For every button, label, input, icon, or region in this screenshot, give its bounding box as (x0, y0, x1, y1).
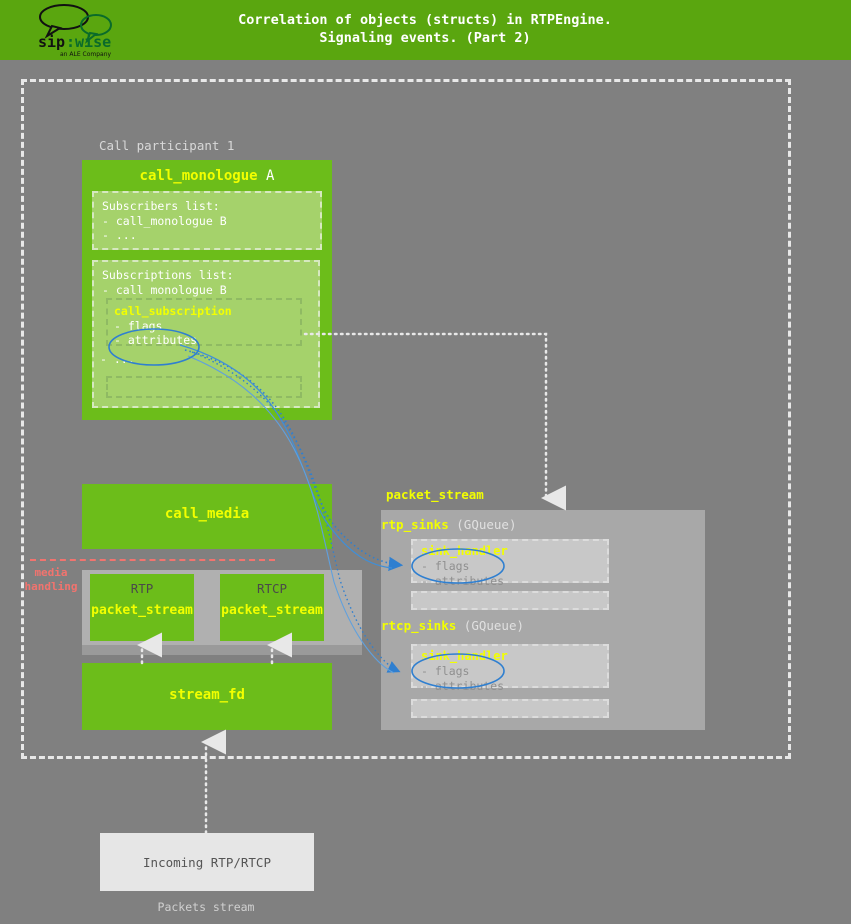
rtcp-sink-handler-box: sink_handler - flags - attributes (411, 644, 609, 688)
incoming-rtp-rtcp-box: Incoming RTP/RTCP (100, 833, 314, 891)
call-monologue-a-box: call_monologue A Subscribers list: - cal… (82, 160, 332, 420)
rtcp-sinks-name: rtcp_sinks (381, 618, 456, 633)
rtp-proto-label: RTP (90, 581, 194, 596)
rtcp-sink-handler-name: sink_handler (421, 649, 599, 664)
rtcp-sinks-type: (GQueue) (464, 618, 524, 633)
call-media-title: call_media (82, 506, 332, 522)
media-handling-label-line2: handling (22, 580, 80, 594)
stream-fd-title: stream_fd (82, 687, 332, 703)
media-handling-band-lower (82, 645, 362, 655)
rtcp-struct-label: packet_stream (220, 603, 324, 618)
stream-fd-box: stream_fd (82, 663, 332, 730)
rtcp-sink-handler-attributes: - attributes (421, 679, 599, 694)
title-line-2: Signaling events. (Part 2) (150, 29, 700, 47)
svg-text:sip: sip (38, 33, 65, 51)
rtp-sink-empty-slot (411, 591, 609, 610)
rtp-sink-handler-box: sink_handler - flags - attributes (411, 539, 609, 583)
diagram-canvas: sip :wise an ALE Company Correlation of … (0, 0, 851, 924)
rtcp-sink-handler-flags: - flags (421, 664, 599, 679)
rtp-sink-handler-attributes: - attributes (421, 574, 599, 589)
call-subscription-flags: - flags (114, 319, 294, 334)
subscribers-list-box: Subscribers list: - call_monologue B - .… (92, 191, 322, 250)
rtp-sink-handler-name: sink_handler (421, 544, 599, 559)
call-subscription-placeholder-box (106, 376, 302, 398)
subscriptions-heading: Subscriptions list: (102, 268, 310, 283)
rtp-sinks-label: rtp_sinks (GQueue) (381, 517, 516, 532)
rtcp-sink-empty-slot (411, 699, 609, 718)
rtp-packet-stream-box: RTP packet_stream (90, 574, 194, 641)
rtcp-packet-stream-box: RTCP packet_stream (220, 574, 324, 641)
call-subscription-attributes: - attributes (114, 333, 294, 348)
media-handling-divider (30, 559, 275, 561)
rtcp-sinks-label: rtcp_sinks (GQueue) (381, 618, 524, 633)
subscribers-item: - call_monologue B (102, 214, 312, 229)
call-subscription-title: call_subscription (114, 304, 294, 319)
subscriptions-list-box: Subscriptions list: - call monologue B c… (92, 260, 320, 408)
packets-stream-label: Packets stream (0, 900, 412, 914)
media-handling-label: media handling (22, 566, 80, 594)
rtcp-proto-label: RTCP (220, 581, 324, 596)
packet-stream-label: packet_stream (386, 487, 484, 502)
rtp-sinks-name: rtp_sinks (381, 517, 449, 532)
subscribers-item: - ... (102, 228, 312, 243)
media-handling-label-line1: media (22, 566, 80, 580)
call-media-box: call_media (82, 484, 332, 549)
logo-subtitle: an ALE Company (60, 51, 112, 58)
call-monologue-a-suffix: A (266, 168, 274, 184)
sipwise-logo: sip :wise an ALE Company (30, 3, 130, 58)
call-monologue-a-title: call_monologue A (82, 168, 332, 184)
subscriptions-item-2: - ... (100, 352, 135, 367)
page-title: Correlation of objects (structs) in RTPE… (150, 11, 700, 47)
call-participant-label: Call participant 1 (99, 138, 234, 153)
rtp-sink-handler-flags: - flags (421, 559, 599, 574)
subscriptions-item-1: - call monologue B (102, 283, 310, 298)
svg-text::wise: :wise (66, 33, 111, 51)
subscribers-heading: Subscribers list: (102, 199, 312, 214)
call-monologue-a-id: call_monologue (140, 168, 258, 184)
rtp-sinks-type: (GQueue) (456, 517, 516, 532)
page-header: sip :wise an ALE Company Correlation of … (0, 0, 851, 60)
title-line-1: Correlation of objects (structs) in RTPE… (150, 11, 700, 29)
rtp-struct-label: packet_stream (90, 603, 194, 618)
call-subscription-box: call_subscription - flags - attributes (106, 298, 302, 346)
